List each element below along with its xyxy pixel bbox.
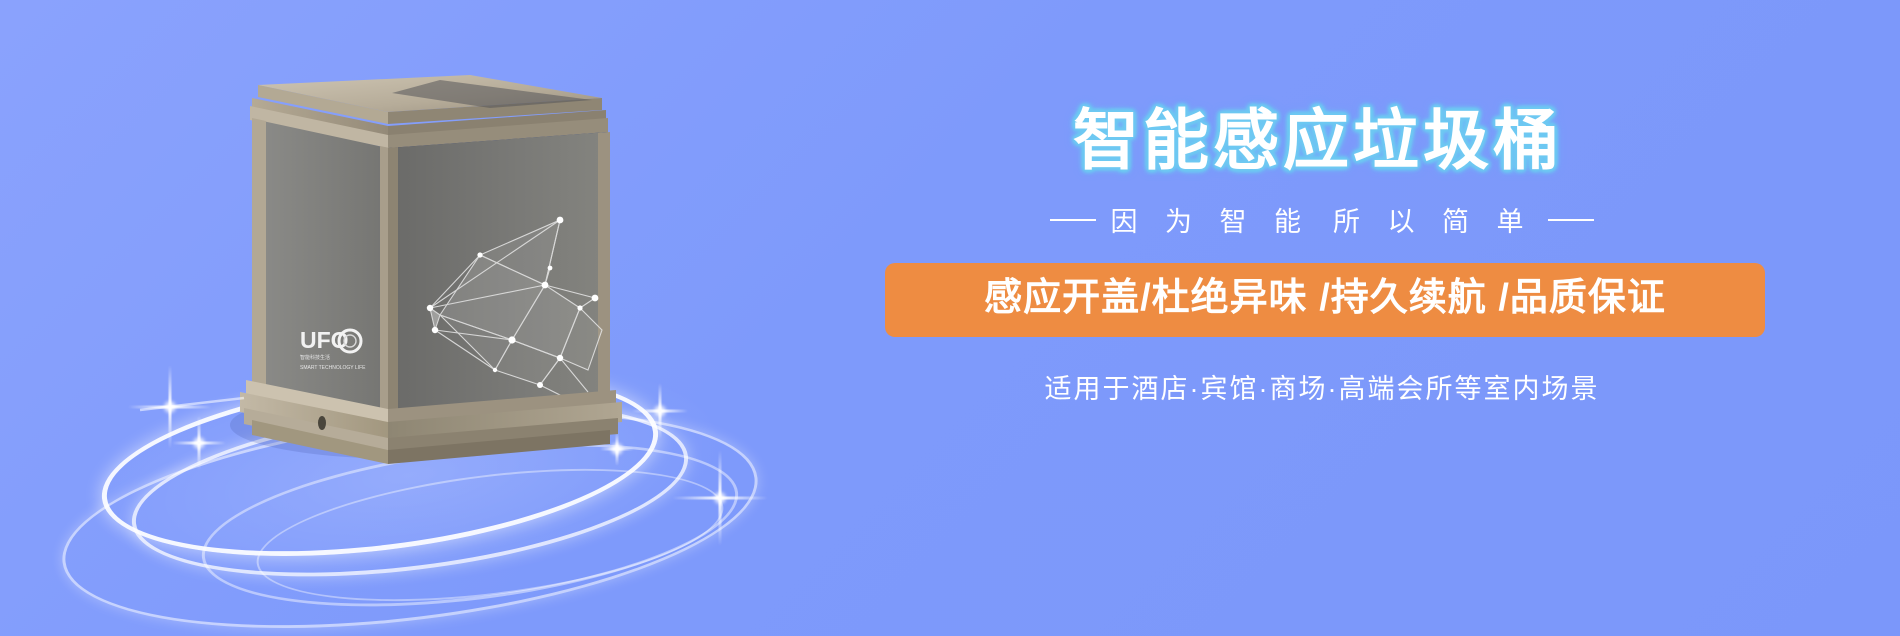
tagline-dash-left — [1050, 219, 1096, 221]
svg-text:SMART TECHNOLOGY LIFE: SMART TECHNOLOGY LIFE — [300, 365, 366, 371]
page-title: 智能感应垃圾桶 — [885, 104, 1765, 178]
tagline-dash-right — [1548, 219, 1594, 221]
brand-logo: UFO 智能科技生活 SMART TECHNOLOGY LIFE — [300, 327, 366, 371]
tagline-right-text: 所 以 简 单 — [1333, 207, 1534, 237]
tagline: 因 为 智 能所 以 简 单 — [885, 200, 1765, 239]
copy-block: 智能感应垃圾桶 因 为 智 能所 以 简 单 感应开盖/杜绝异味 /持久续航 /… — [885, 104, 1765, 406]
svg-text:智能科技生活: 智能科技生活 — [300, 354, 330, 361]
promo-banner: UFO 智能科技生活 SMART TECHNOLOGY LIFE — [0, 0, 1900, 636]
product-image-trash-bin: UFO 智能科技生活 SMART TECHNOLOGY LIFE — [140, 40, 700, 490]
features-badge: 感应开盖/杜绝异味 /持久续航 /品质保证 — [885, 263, 1765, 337]
tagline-left-text: 因 为 智 能 — [1110, 207, 1311, 237]
usage-scenarios-text: 适用于酒店·宾馆·商场·高端会所等室内场景 — [885, 367, 1765, 406]
